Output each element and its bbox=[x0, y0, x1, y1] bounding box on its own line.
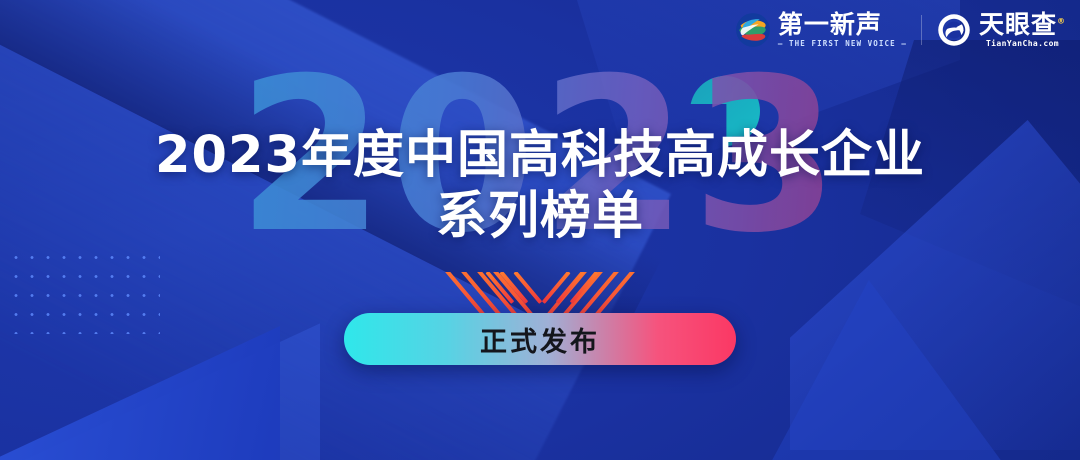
triangle-bottom-left-soft bbox=[0, 320, 320, 460]
release-cta-label: 正式发布 bbox=[480, 320, 600, 359]
logo-diyixinsheng[interactable]: 第一新声 — THE FIRST NEW VOICE — bbox=[735, 12, 907, 48]
triangle-bottom-left bbox=[0, 326, 280, 460]
page-title-line-1: 2023年度中国高科技高成长企业 bbox=[0, 128, 1080, 183]
logo-bar: 第一新声 — THE FIRST NEW VOICE — 天眼查® TianYa… bbox=[735, 12, 1066, 48]
registered-mark: ® bbox=[1057, 17, 1066, 26]
eye-lens-icon bbox=[936, 12, 972, 48]
logo-divider bbox=[921, 15, 922, 45]
logo-tianyancha-cn-label: 天眼查 bbox=[979, 10, 1057, 39]
logo-diyixinsheng-text: 第一新声 — THE FIRST NEW VOICE — bbox=[778, 12, 907, 48]
logo-diyixinsheng-cn: 第一新声 bbox=[778, 12, 907, 37]
facet-right-bottom bbox=[740, 280, 1020, 460]
promo-banner: 2023 2023年度中国高科技高成长企业 系列榜单 正式发布 bbox=[0, 0, 1080, 460]
logo-diyixinsheng-en: — THE FIRST NEW VOICE — bbox=[778, 40, 907, 48]
logo-tianyancha[interactable]: 天眼查® TianYanCha.com bbox=[936, 12, 1066, 48]
logo-tianyancha-cn: 天眼查® bbox=[979, 12, 1066, 37]
page-title-line-2: 系列榜单 bbox=[0, 189, 1080, 244]
headline-block: 2023年度中国高科技高成长企业 系列榜单 bbox=[0, 128, 1080, 244]
logo-tianyancha-en: TianYanCha.com bbox=[979, 40, 1066, 48]
chevron-stroke bbox=[570, 272, 599, 304]
ribbon-globe-icon bbox=[735, 12, 771, 48]
release-cta-button[interactable]: 正式发布 bbox=[344, 313, 736, 365]
logo-tianyancha-text: 天眼查® TianYanCha.com bbox=[979, 12, 1066, 48]
chevron-stroke bbox=[485, 272, 514, 304]
